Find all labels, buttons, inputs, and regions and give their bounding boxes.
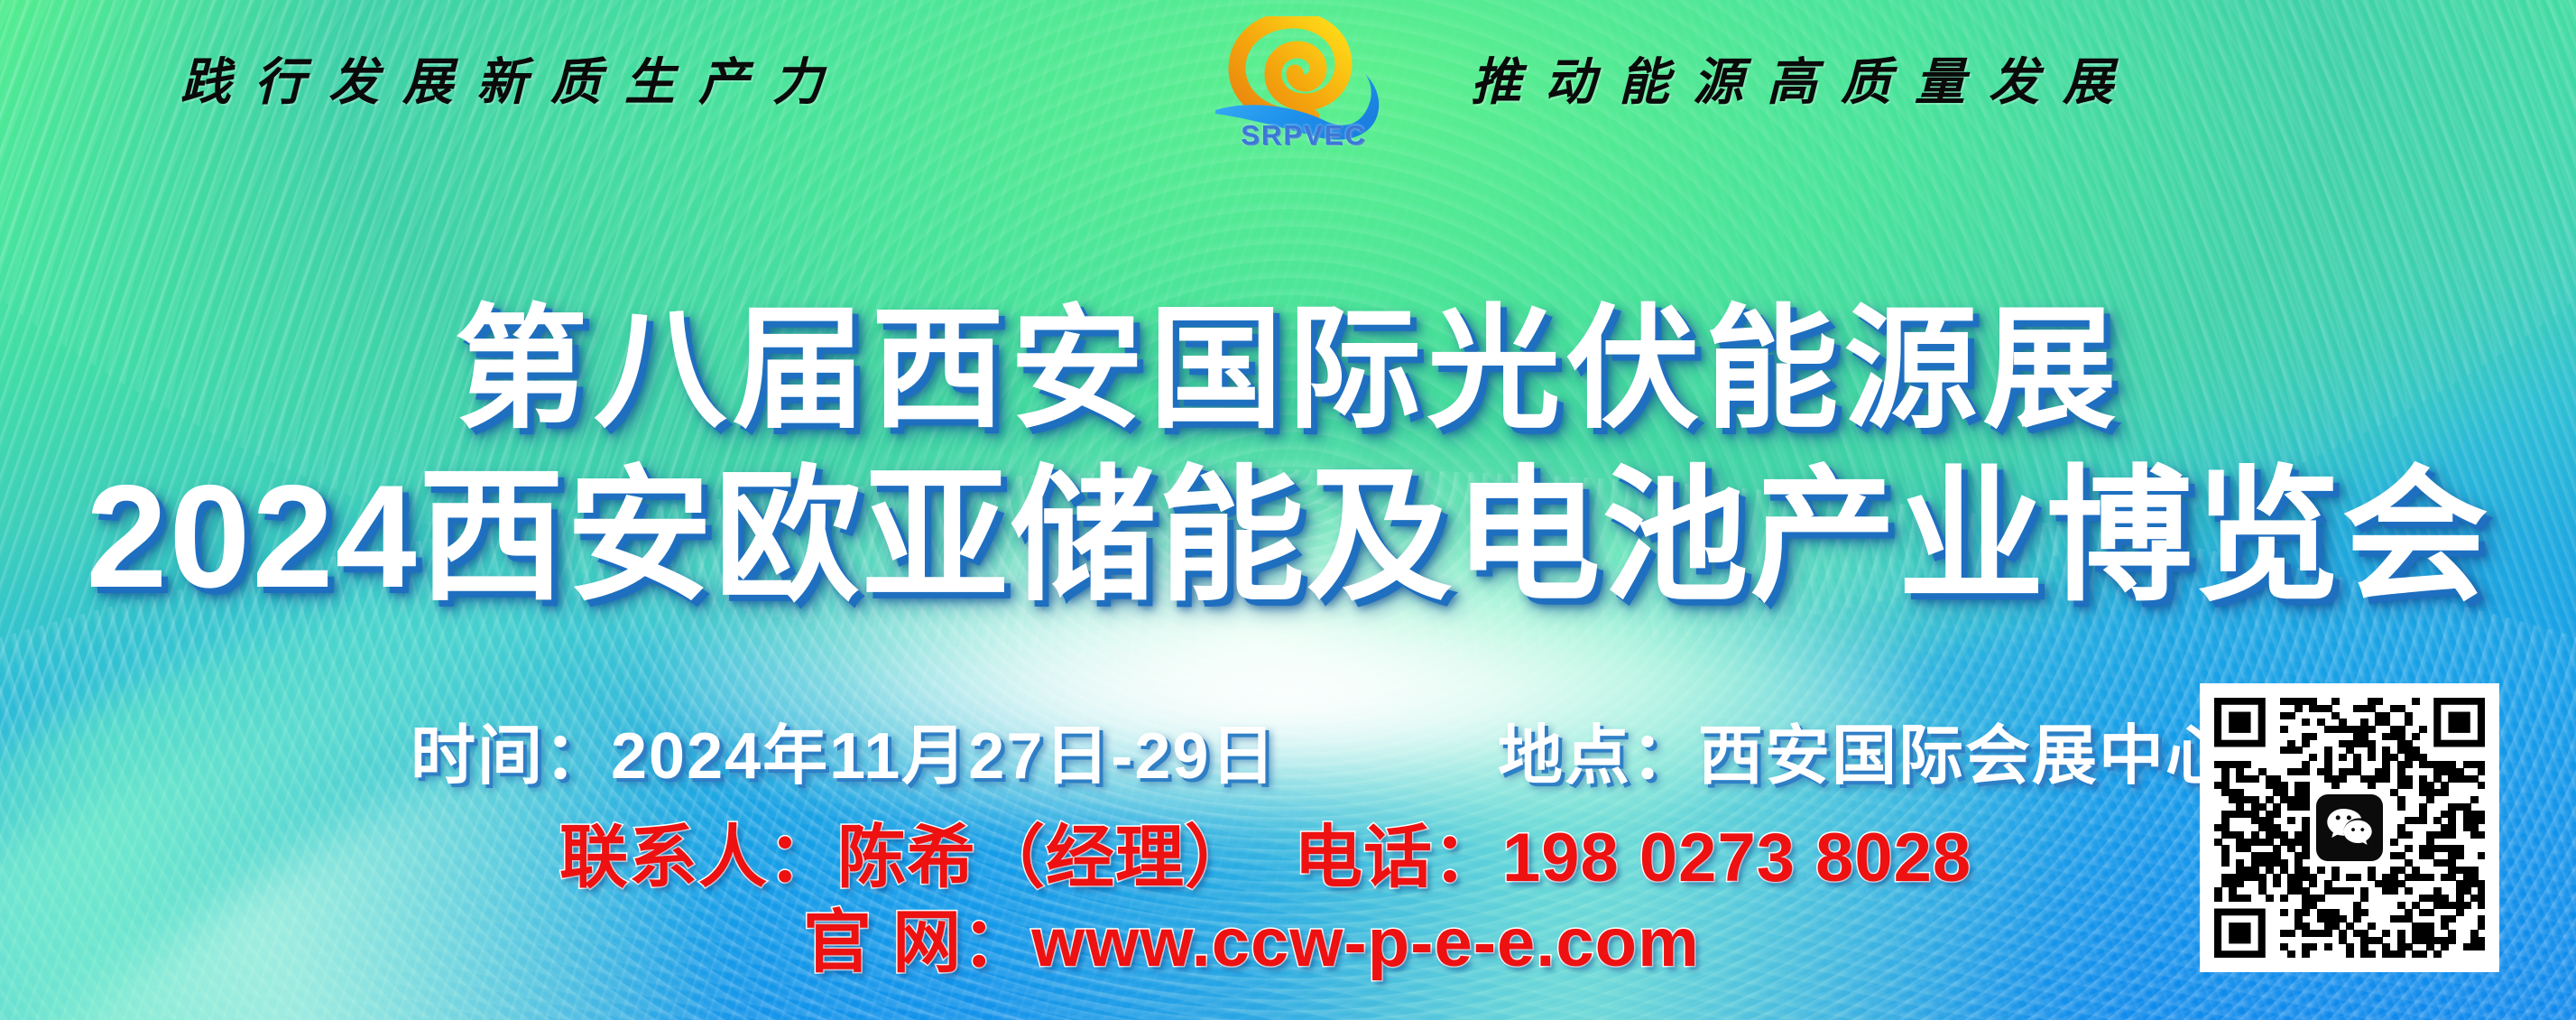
contact-person-name: 陈希（经理） — [837, 820, 1254, 896]
event-date: 时间：2024年11月27日-29日 — [411, 702, 1277, 797]
website-label: 官 网： — [803, 904, 1031, 981]
logo-acronym: SRPVEC — [1214, 119, 1394, 152]
website-url[interactable]: www.ccw-p-e-e.com — [1031, 904, 1700, 981]
wechat-qr-code[interactable] — [2200, 683, 2499, 972]
qr-matrix — [2214, 698, 2485, 958]
website-line: 官 网：www.ccw-p-e-e.com — [803, 886, 1700, 986]
wechat-logo-icon — [2316, 794, 2383, 861]
event-venue: 地点：西安国际会展中心 — [1498, 702, 2232, 797]
banner-content: 践行发展新质生产力 推动能源高质量发展 — [0, 0, 2576, 1020]
contact-phone-label: 电话： — [1294, 820, 1502, 896]
slogan-left: 践行发展新质生产力 — [180, 42, 846, 115]
contact-phone-number: 198 0273 8028 — [1502, 820, 1971, 896]
exhibition-banner: 践行发展新质生产力 推动能源高质量发展 — [0, 0, 2576, 1020]
page-title-line-2: 2024西安欧亚储能及电池产业博览会 — [0, 417, 2576, 629]
slogan-right: 推动能源高质量发展 — [1471, 42, 2137, 115]
contact-person-label: 联系人： — [559, 820, 837, 896]
